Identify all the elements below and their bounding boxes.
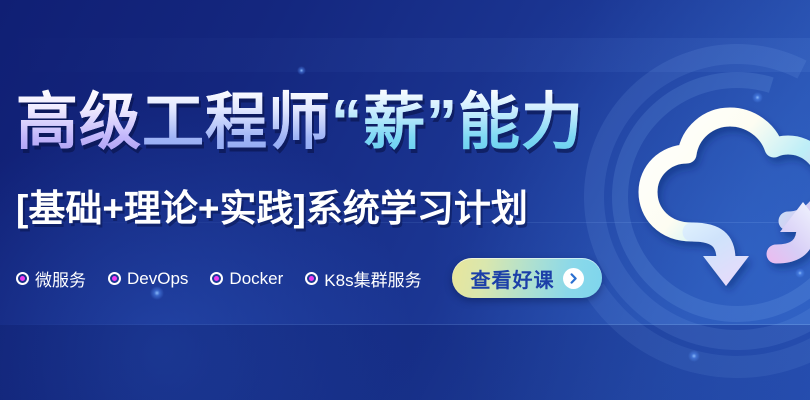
promo-banner: 高级工程师“薪”能力 [基础+理论+实践]系统学习计划 微服务 DevOps D… [0,0,810,400]
feature-tag: DevOps [108,269,188,289]
glow-dot-icon [688,350,700,362]
feature-tag: Docker [210,269,283,289]
feature-tag-label: Docker [229,269,283,289]
radio-dot-icon [16,272,29,285]
headline-segment-3: “薪”能力 [331,88,584,157]
feature-tag-label: 微服务 [35,266,86,291]
feature-tag-list: 微服务 DevOps Docker K8s集群服务 [16,266,422,291]
page-subtitle: [基础+理论+实践]系统学习计划 [16,190,528,227]
headline-segment-1: 高级 [16,88,142,157]
banner-content: 高级工程师“薪”能力 [基础+理论+实践]系统学习计划 微服务 DevOps D… [0,0,640,400]
page-title: 高级工程师“薪”能力 [16,92,584,154]
chevron-right-icon [563,268,584,289]
feature-tag: 微服务 [16,266,86,291]
radio-dot-icon [210,272,223,285]
radio-dot-icon [305,272,318,285]
headline-segment-2: 工程师 [142,88,331,157]
feature-tag-label: DevOps [127,269,188,289]
view-courses-button-label: 查看好课 [471,264,555,293]
feature-tag-label: K8s集群服务 [324,266,421,291]
feature-tag: K8s集群服务 [305,266,421,291]
view-courses-button[interactable]: 查看好课 [452,258,602,298]
cloud-sync-icon [630,100,810,300]
radio-dot-icon [108,272,121,285]
